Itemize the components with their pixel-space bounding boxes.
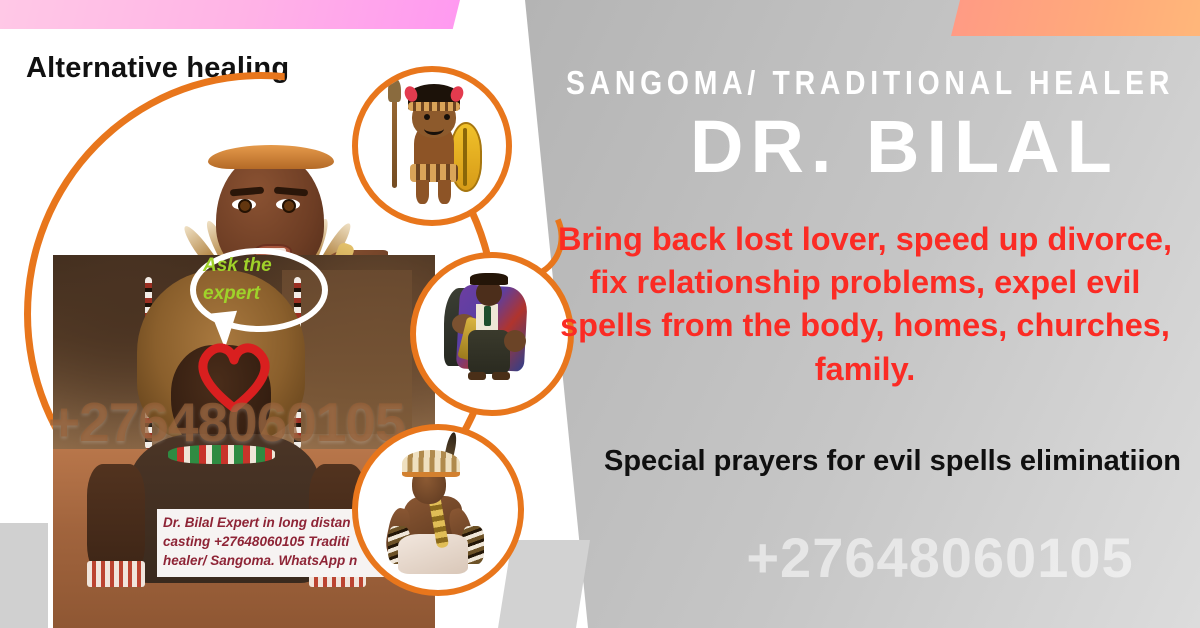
top-orange-band <box>951 0 1200 36</box>
doctor-name-title: DR. BILAL <box>690 104 1119 189</box>
badge-crouching-healer <box>352 424 524 596</box>
services-text: Bring back lost lover, speed up divorce,… <box>545 218 1185 391</box>
badge-zulu-warrior <box>352 66 512 226</box>
special-prayers-text: Special prayers for evil spells eliminat… <box>600 442 1185 481</box>
photo-phone-watermark: +27648060105 <box>48 390 405 454</box>
poster-canvas: Alternative healing <box>0 0 1200 628</box>
phone-number-watermark: +27648060105 <box>680 525 1200 590</box>
kicker-headline: SANGOMA/ TRADITIONAL HEALER <box>566 64 1099 102</box>
speech-bubble-label: Ask the expert <box>203 252 323 307</box>
bottom-left-gray-block <box>0 523 48 628</box>
top-pink-band <box>0 0 460 29</box>
